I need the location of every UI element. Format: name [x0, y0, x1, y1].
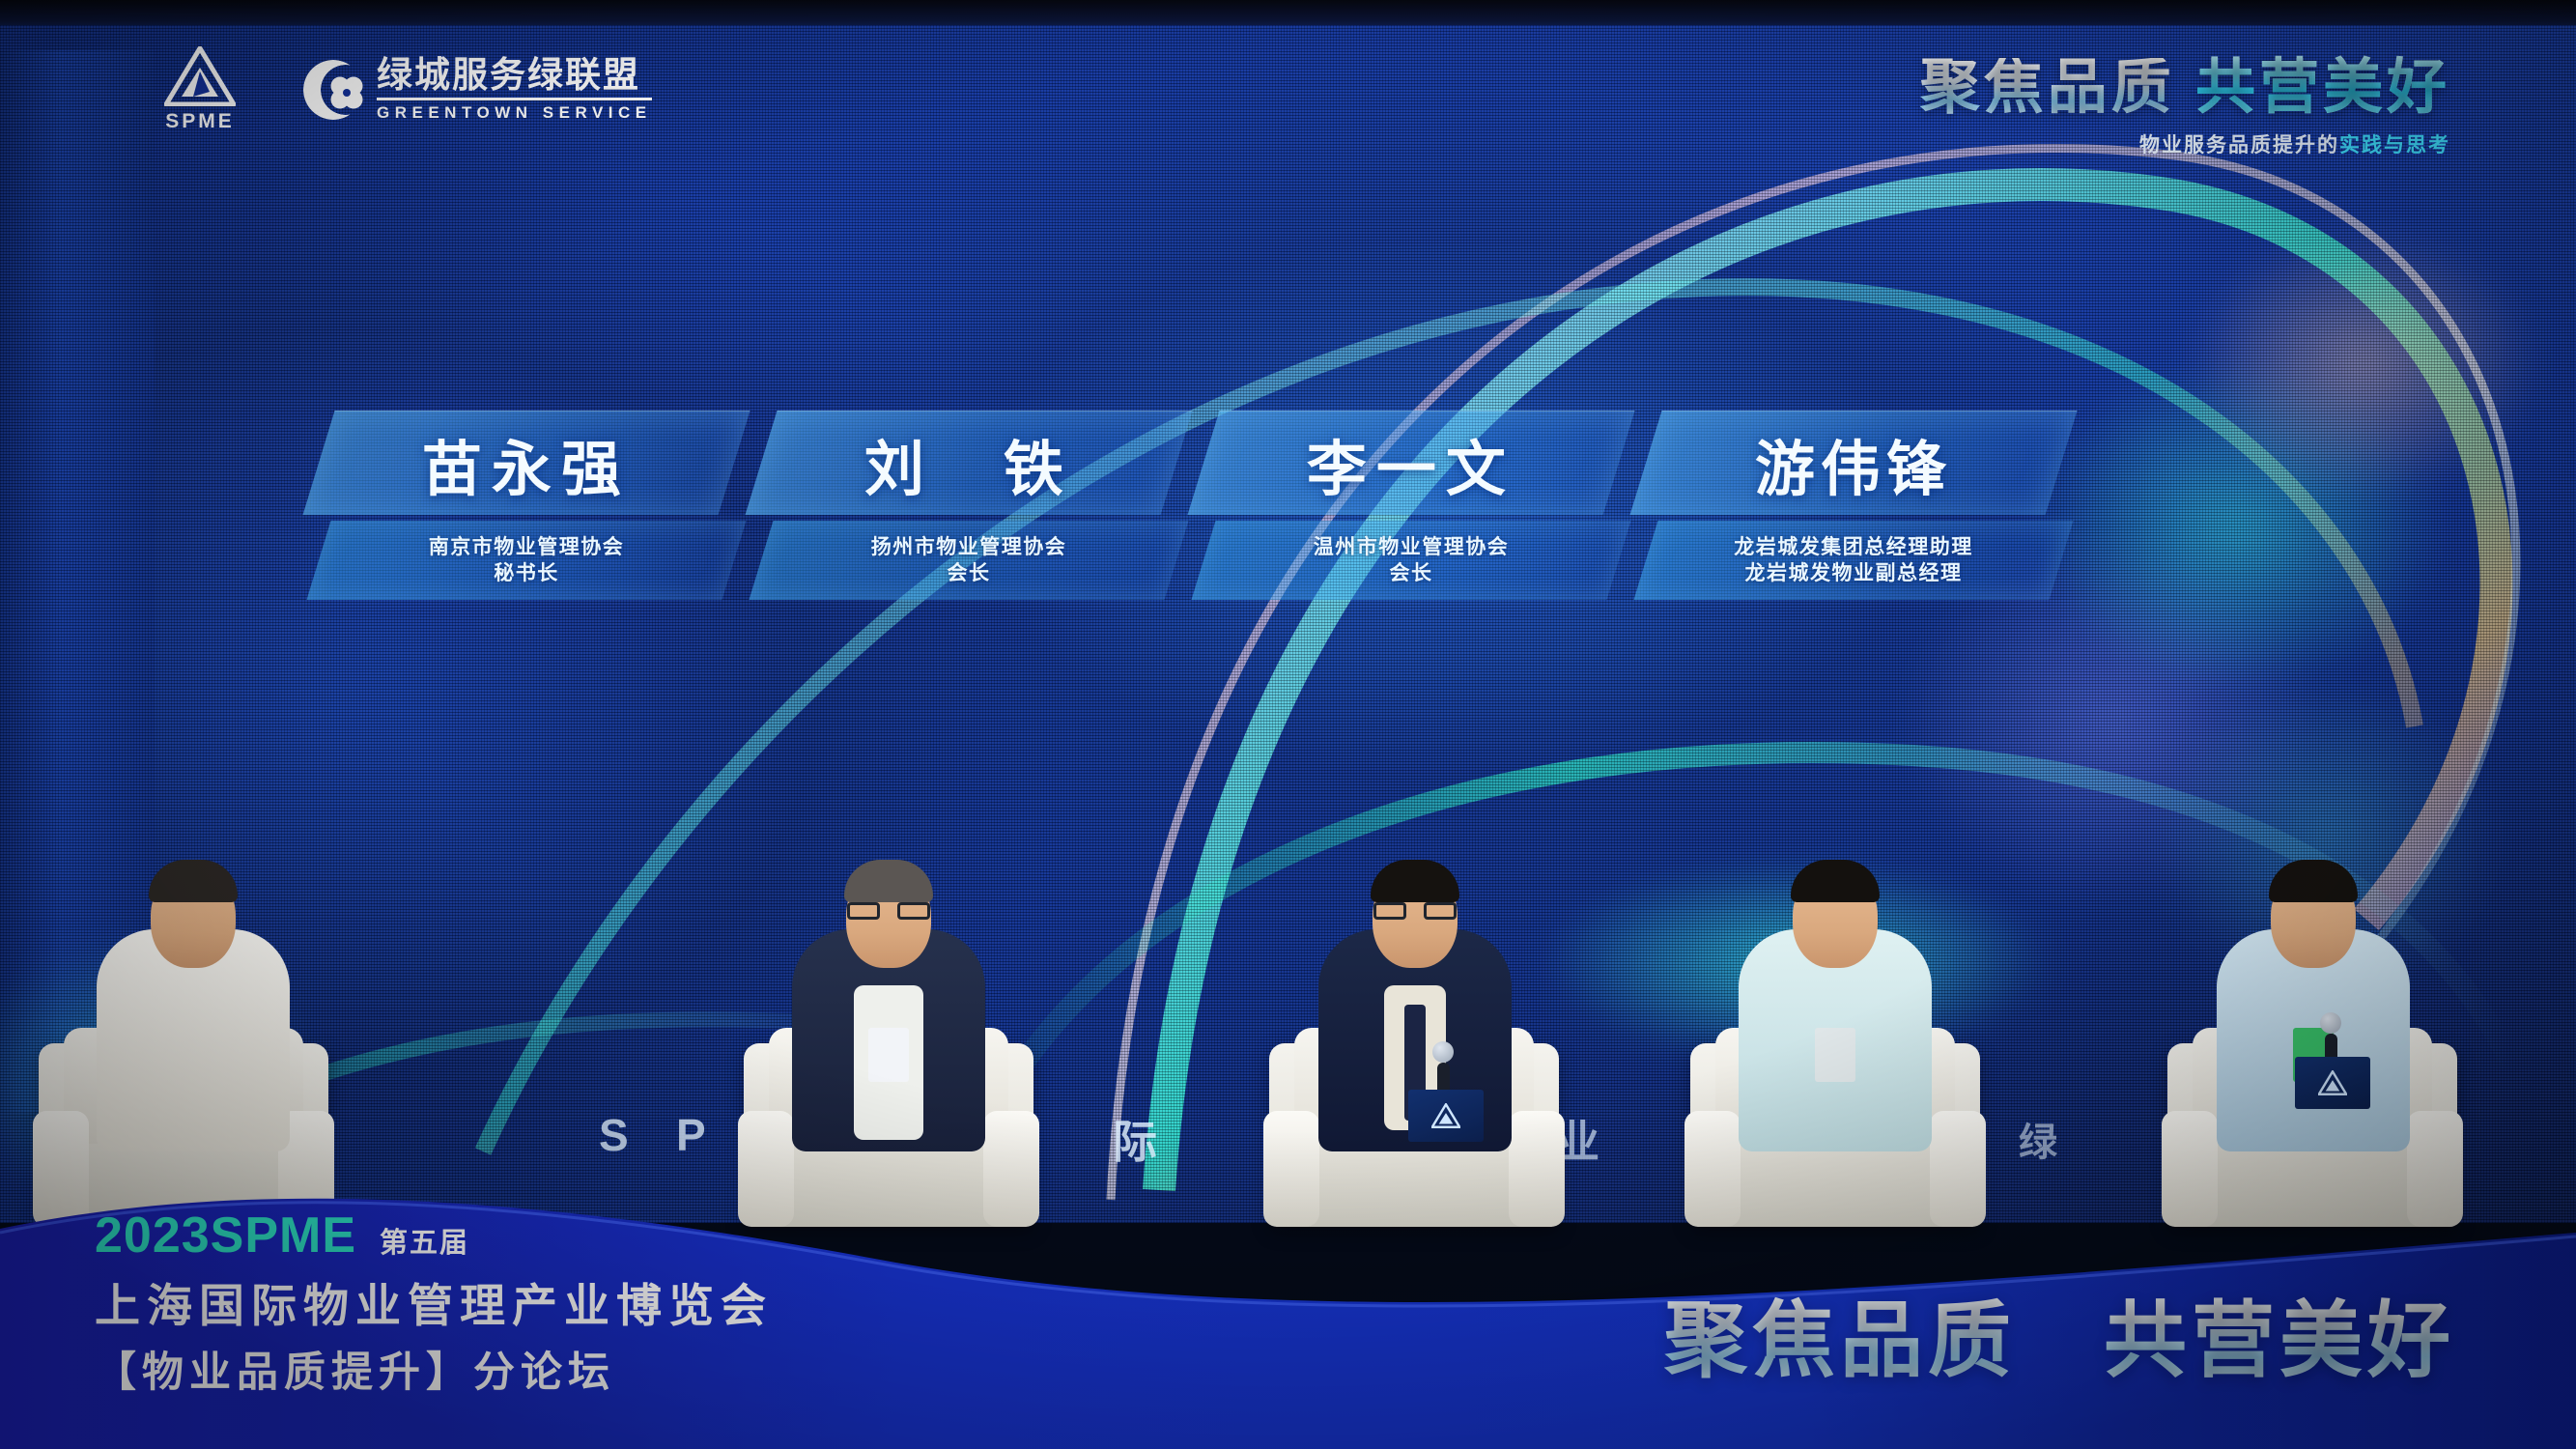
panelist-hair [149, 860, 238, 902]
sponsor-logo-row: SPME 绿城服务绿联盟 GREENTOWN SERVICE [164, 46, 652, 133]
event-forum-name: 【物业品质提升】分论坛 [95, 1339, 773, 1399]
mic-head-icon [1432, 1041, 1454, 1063]
headline-text: 聚焦品质 共营美好 [1920, 58, 2450, 118]
speaker-name-bar: 游伟锋 [1629, 411, 2077, 515]
panelist-2 [734, 802, 1043, 1227]
speaker-title-bar: 龙岩城发集团总经理助理 龙岩城发物业副总经理 [1633, 521, 2073, 600]
greentown-english-name: GREENTOWN SERVICE [377, 98, 652, 123]
speaker-name-bar: 刘 铁 [745, 411, 1192, 515]
panelist-hair [844, 860, 933, 902]
microphone-with-flag [2291, 1012, 2370, 1109]
spme-triangle-icon [164, 46, 236, 106]
speaker-nameplates: 苗永强 南京市物业管理协会 秘书长 刘 铁 扬州市物业管理协会 会长 [319, 411, 2061, 600]
headline-part1: 聚焦品质 [1920, 54, 2175, 121]
panelist-lanyard [858, 976, 920, 1082]
stage-headline: 聚焦品质 共营美好 物业服务品质提升的实践与思考 [1920, 58, 2450, 158]
speaker-name-bar: 李一文 [1187, 411, 1634, 515]
speaker-org: 南京市物业管理协会 [429, 534, 625, 560]
microphone-with-flag [1402, 1041, 1484, 1142]
speaker-nameplate: 李一文 温州市物业管理协会 会长 [1203, 411, 1619, 600]
subheadline-part2: 实践与思考 [2339, 134, 2450, 156]
speaker-name: 李一文 [1203, 412, 1619, 515]
greentown-logo: 绿城服务绿联盟 GREENTOWN SERVICE [303, 57, 652, 124]
panelist-lanyard [1804, 976, 1866, 1082]
speaker-role: 会长 [948, 560, 991, 586]
speaker-role: 龙岩城发物业副总经理 [1745, 560, 1963, 586]
mic-flag-spme-logo [1408, 1090, 1484, 1142]
headline-part2: 共营美好 [2195, 54, 2450, 121]
panelist-hair [1791, 860, 1880, 902]
speaker-org: 龙岩城发集团总经理助理 [1734, 534, 1973, 560]
speaker-nameplate: 刘 铁 扬州市物业管理协会 会长 [761, 411, 1176, 600]
event-edition: 第五届 [380, 1220, 469, 1261]
spme-logo-text: SPME [165, 110, 235, 133]
glasses-icon [847, 902, 930, 920]
speaker-title-bar: 南京市物业管理协会 秘书长 [306, 521, 746, 600]
speaker-name: 刘 铁 [761, 412, 1176, 515]
panelist-3 [1256, 802, 1574, 1227]
panelist-hair [1371, 860, 1459, 902]
banner-slogan: 聚焦品质 共营美好 [1664, 1272, 2455, 1393]
mic-head-icon [2320, 1012, 2341, 1034]
greentown-chinese-name: 绿城服务绿联盟 [377, 57, 652, 95]
spme-logo: SPME [164, 46, 236, 133]
badge-icon [868, 1028, 909, 1082]
badge-icon [1815, 1028, 1855, 1082]
speaker-role: 秘书长 [494, 560, 559, 586]
speaker-nameplate: 苗永强 南京市物业管理协会 秘书长 [319, 411, 734, 600]
bottom-banner: 2023SPME 第五届 上海国际物业管理产业博览会 【物业品质提升】分论坛 聚… [0, 1190, 2576, 1449]
speaker-role: 会长 [1390, 560, 1433, 586]
event-branding-block: 2023SPME 第五届 上海国际物业管理产业博览会 【物业品质提升】分论坛 [95, 1207, 773, 1399]
speaker-title-bar: 温州市物业管理协会 会长 [1191, 521, 1630, 600]
speaker-title-bar: 扬州市物业管理协会 会长 [749, 521, 1188, 600]
subheadline-text: 物业服务品质提升的实践与思考 [1920, 129, 2450, 158]
panelist-1 [39, 802, 348, 1227]
speaker-org: 扬州市物业管理协会 [871, 534, 1067, 560]
event-year-brand: 2023SPME [95, 1207, 356, 1264]
event-expo-name: 上海国际物业管理产业博览会 [95, 1268, 773, 1335]
panelist-4 [1681, 802, 1990, 1227]
subheadline-part1: 物业服务品质提升的 [2139, 134, 2339, 156]
conference-photo-stage: SPME 绿城服务绿联盟 GREENTOWN SERVICE [0, 0, 2576, 1449]
greentown-moon-flower-icon [303, 60, 363, 120]
speaker-nameplate: 游伟锋 龙岩城发集团总经理助理 龙岩城发物业副总经理 [1646, 411, 2061, 600]
glasses-icon [1373, 902, 1457, 920]
panelist-5 [2154, 802, 2473, 1227]
panelists-row [0, 802, 2576, 1227]
panelist-hair [2269, 860, 2358, 902]
speaker-name: 游伟锋 [1646, 412, 2061, 515]
speaker-org: 温州市物业管理协会 [1314, 534, 1510, 560]
mic-flag-spme-logo [2295, 1057, 2370, 1109]
speaker-name: 苗永强 [319, 412, 734, 515]
speaker-name-bar: 苗永强 [302, 411, 750, 515]
